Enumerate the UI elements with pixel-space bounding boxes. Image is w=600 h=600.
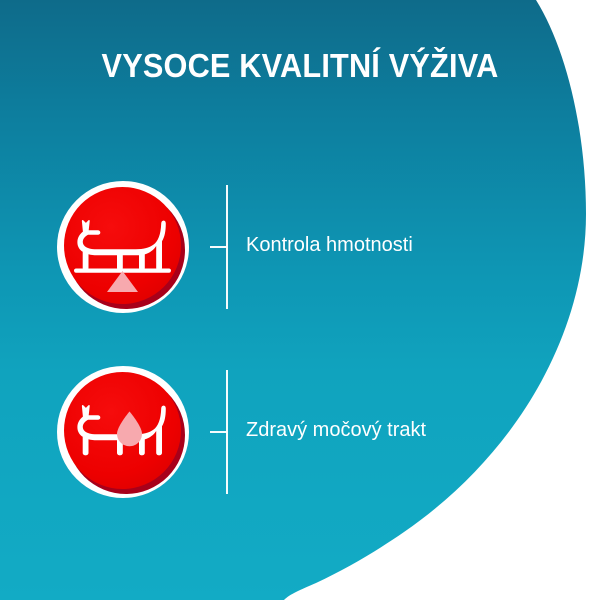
promo-panel: VYSOCE KVALITNÍ VÝŽIVA [0, 0, 600, 600]
page-title: VYSOCE KVALITNÍ VÝŽIVA [21, 47, 579, 85]
feature-badge-weight-control[interactable] [55, 179, 191, 315]
cat-on-balance-scale-icon [55, 179, 191, 315]
feature-badge-urinary-tract[interactable] [55, 364, 191, 500]
feature-connector [208, 364, 232, 500]
feature-connector [208, 179, 232, 315]
cat-with-water-drop-icon [55, 364, 191, 500]
feature-label: Zdravý močový trakt [246, 417, 566, 443]
connector-dash [210, 246, 227, 248]
feature-row: Zdravý močový trakt [0, 364, 600, 500]
feature-label: Kontrola hmotnosti [246, 232, 566, 258]
feature-row: Kontrola hmotnosti [0, 179, 600, 315]
connector-dash [210, 431, 227, 433]
